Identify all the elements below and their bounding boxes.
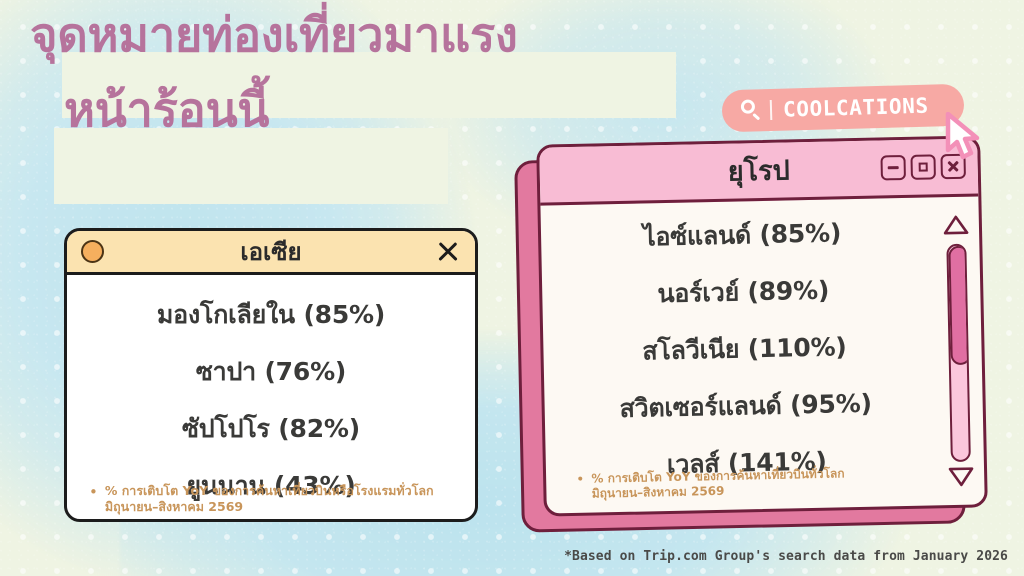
list-item: นอร์เวย์ (89%) — [558, 269, 929, 317]
scrollbar-track[interactable] — [946, 244, 971, 462]
europe-footnote-text: % การเติบโต YoY ของการค้นหาเที่ยวบินทั่ว… — [591, 465, 892, 502]
europe-window-body: ไอซ์แลนด์ (85%) นอร์เวย์ (89%) สโลวีเนีย… — [540, 196, 984, 513]
circle-icon[interactable] — [81, 240, 104, 263]
pill-divider — [770, 100, 773, 120]
asia-footnote: • % การเติบโต YoY ของการค้นหาเที่ยวบินหร… — [89, 483, 445, 515]
page-title-line-1: จุดหมายท่องเที่ยวมาแรง — [30, 12, 518, 61]
window-europe[interactable]: ยุโรป ไอซ์แลนด์ (85%) นอร์เวย์ (89%) สโล… — [536, 135, 988, 516]
window-asia[interactable]: เอเซีย มองโกเลียใน (85%) ซาปา (76%) ซัปโ… — [64, 228, 478, 522]
scrollbar-thumb[interactable] — [948, 245, 971, 365]
europe-destination-list: ไอซ์แลนด์ (85%) นอร์เวย์ (89%) สโลวีเนีย… — [557, 212, 933, 488]
europe-titlebar[interactable]: ยุโรป — [539, 138, 978, 205]
asia-window-title: เอเซีย — [67, 232, 475, 271]
coolcations-label: COOLCATIONS — [783, 94, 929, 122]
bullet-icon: • — [89, 483, 98, 502]
europe-content-area: ไอซ์แลนด์ (85%) นอร์เวย์ (89%) สโลวีเนีย… — [541, 211, 939, 509]
list-item: ซาปา (76%) — [77, 352, 465, 392]
europe-scrollbar[interactable] — [933, 210, 985, 501]
triangle-down-icon[interactable] — [948, 467, 974, 492]
europe-footnote: • % การเติบโต YoY ของการค้นหาเที่ยวบินทั… — [576, 465, 892, 503]
coolcations-search-pill[interactable]: COOLCATIONS — [721, 84, 964, 133]
bullet-icon: • — [576, 472, 585, 490]
maximize-icon[interactable] — [910, 154, 936, 180]
list-item: สวิตเซอร์แลนด์ (95%) — [560, 382, 931, 430]
source-caption: *Based on Trip.com Group's search data f… — [564, 549, 1008, 564]
list-item: ซัปโปโร (82%) — [77, 409, 465, 449]
minimize-icon[interactable] — [880, 155, 906, 181]
search-icon — [740, 99, 763, 122]
list-item: มองโกเลียใน (85%) — [77, 295, 465, 335]
triangle-up-icon[interactable] — [943, 215, 969, 240]
close-icon[interactable] — [435, 239, 461, 265]
poster-canvas: จุดหมายท่องเที่ยวมาแรง หน้าร้อนนี้ COOLC… — [0, 0, 1024, 576]
asia-titlebar[interactable]: เอเซีย — [67, 231, 475, 275]
title-highlight-band-2 — [54, 128, 448, 204]
list-item: ไอซ์แลนด์ (85%) — [557, 212, 928, 260]
asia-footnote-text: % การเติบโต YoY ของการค้นหาเที่ยวบินหรือ… — [105, 483, 445, 515]
window-europe-wrapper: ยุโรป ไอซ์แลนด์ (85%) นอร์เวย์ (89%) สโล… — [516, 140, 986, 528]
list-item: สโลวีเนีย (110%) — [559, 326, 930, 374]
page-title-line-2: หน้าร้อนนี้ — [64, 87, 269, 136]
cursor-arrow-icon — [944, 112, 986, 166]
asia-window-body: มองโกเลียใน (85%) ซาปา (76%) ซัปโปโร (82… — [67, 275, 475, 522]
